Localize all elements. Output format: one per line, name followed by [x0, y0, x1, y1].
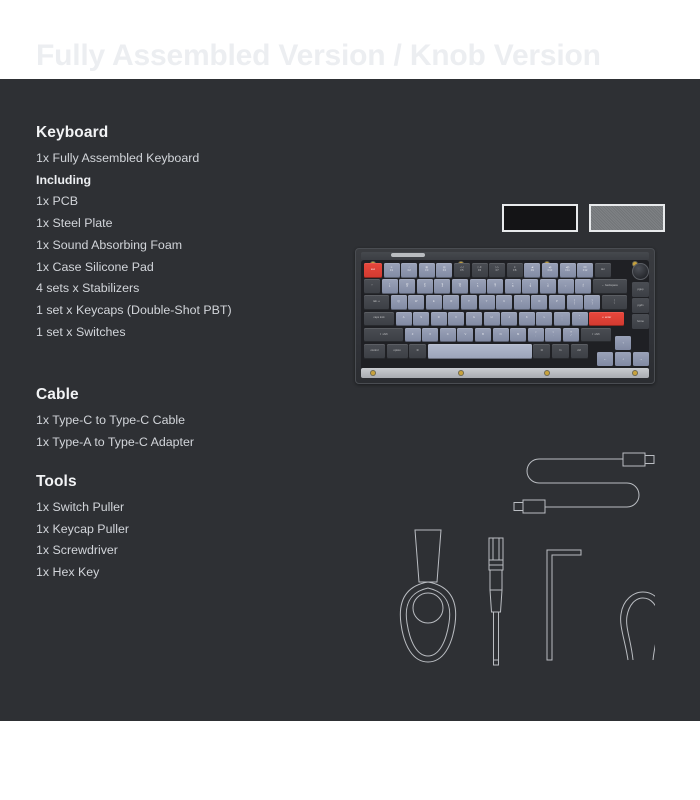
key-p[interactable]: P [549, 295, 565, 310]
keycap-row-2: ~`!1@2#3$4%5^6&7*8(9)0_-+=← backspace [364, 279, 646, 294]
key-▷ii-f6[interactable]: ▷IIF6 [472, 263, 488, 278]
key-i[interactable]: I [514, 295, 530, 310]
key-+-=[interactable]: += [575, 279, 591, 294]
key-⌘[interactable]: ⌘ [533, 344, 550, 359]
key-arrow-left[interactable]: ← [597, 352, 613, 367]
key-?-/[interactable]: ?/ [563, 328, 579, 343]
key-⌘[interactable]: ⌘ [409, 344, 426, 359]
key-☀-f1[interactable]: ☀F1 [384, 263, 400, 278]
tools-section: Tools 1x Switch Puller 1x Keycap Puller … [36, 473, 336, 584]
key-a[interactable]: A [396, 312, 412, 327]
list-item: 1x Case Silicone Pad [36, 257, 336, 279]
key-fn[interactable]: fn [552, 344, 569, 359]
switch-puller-illustration [400, 530, 455, 662]
keyboard-section: Keyboard 1x Fully Assembled Keyboard Inc… [36, 124, 336, 343]
key-l[interactable]: L [536, 312, 552, 327]
key-)-0[interactable]: )0 [540, 279, 556, 294]
spacer [633, 336, 649, 351]
key-◀-f9[interactable]: ◀F9 [524, 263, 540, 278]
usb-c-connector-bottom [514, 500, 545, 513]
list-item: 1x Switch Puller [36, 497, 336, 519]
key-&-7[interactable]: &7 [487, 279, 503, 294]
key-◀)-f10[interactable]: ◀)F10 [542, 263, 558, 278]
key-▷▷-f7[interactable]: ▷▷F7 [489, 263, 505, 278]
key-▤-f4[interactable]: ▤F4 [436, 263, 452, 278]
key-⌧-f12[interactable]: ⌧F12 [577, 263, 593, 278]
key-n[interactable]: N [493, 328, 509, 343]
key-option[interactable]: option [387, 344, 408, 359]
keycap-row-3: tab ⇥QWERTYUIOP{[}]|\ [364, 295, 646, 310]
key-~-`[interactable]: ~` [364, 279, 380, 294]
key-k[interactable]: K [519, 312, 535, 327]
color-swatch-silver-grey[interactable] [589, 204, 665, 232]
nav-key-column: pguppgdnhome [632, 282, 649, 331]
key-pgup[interactable]: pgup [632, 282, 649, 297]
key-←-backspace[interactable]: ← backspace [593, 279, 627, 294]
list-item: 1x Sound Absorbing Foam [36, 235, 336, 257]
key-g[interactable]: G [466, 312, 482, 327]
key-tab-⇥[interactable]: tab ⇥ [364, 295, 389, 310]
list-item: 1 set x Keycaps (Double-Shot PBT) [36, 300, 336, 322]
key-%-5[interactable]: %5 [452, 279, 468, 294]
key-{-[[interactable]: {[ [567, 295, 583, 310]
key-esc[interactable]: esc [364, 263, 382, 278]
key-|-\[interactable]: |\ [602, 295, 627, 310]
key-space[interactable] [428, 344, 532, 359]
tools-section-heading: Tools [36, 473, 336, 491]
key-j[interactable]: J [501, 312, 517, 327]
key-b[interactable]: B [475, 328, 491, 343]
key-s[interactable]: S [413, 312, 429, 327]
key-w[interactable]: W [408, 295, 424, 310]
key-v[interactable]: V [457, 328, 473, 343]
key-(-9[interactable]: (9 [522, 279, 538, 294]
list-item: 4 sets x Stabilizers [36, 278, 336, 300]
keyboard-bottom-bezel [361, 368, 649, 378]
tools-illustration-group [385, 528, 655, 670]
keycap-puller-illustration [621, 592, 655, 660]
arrow-row-bottom: ← ↓ → [597, 352, 649, 367]
key-^-6[interactable]: ^6 [470, 279, 486, 294]
hex-key-illustration [547, 550, 581, 660]
key-x[interactable]: X [422, 328, 438, 343]
color-swatch-group [502, 204, 665, 232]
key-f[interactable]: F [448, 312, 464, 327]
key-c[interactable]: C [440, 328, 456, 343]
page-title: Fully Assembled Version / Knob Version [36, 39, 601, 73]
key-d[interactable]: D [431, 312, 447, 327]
color-swatch-carbon-black[interactable] [502, 204, 578, 232]
key-◀))-f11[interactable]: ◀))F11 [560, 263, 576, 278]
cable-section: Cable 1x Type-C to Type-C Cable 1x Type-… [36, 386, 336, 453]
keycap-row-4: caps lockASDFGHJKL:;"'↵ enter [364, 312, 646, 327]
key-m[interactable]: M [510, 328, 526, 343]
list-item: 1x PCB [36, 191, 336, 213]
key-h[interactable]: H [484, 312, 500, 327]
arrow-key-cluster: ↑ ← ↓ → [597, 336, 649, 368]
key-y[interactable]: Y [479, 295, 495, 310]
key->-.[interactable]: >. [545, 328, 561, 343]
usb-c-connector-top [623, 453, 654, 466]
keyboard-product-image: esc☀F1☼F2▦F3▤F4◁◁F5▷IIF6▷▷F7✕F8◀F9◀)F10◀… [355, 248, 655, 384]
list-item: 1x Keycap Puller [36, 519, 336, 541]
list-item: 1x Screwdriver [36, 540, 336, 562]
key-$-4[interactable]: $4 [434, 279, 450, 294]
list-item: 1 set x Switches [36, 322, 336, 344]
screw-icon [633, 371, 637, 375]
screwdriver-illustration [489, 538, 503, 665]
key-z[interactable]: Z [405, 328, 421, 343]
key-}-][interactable]: }] [584, 295, 600, 310]
key-◁◁-f5[interactable]: ◁◁F5 [454, 263, 470, 278]
key-↵-enter[interactable]: ↵ enter [589, 312, 624, 327]
key-✕-f8[interactable]: ✕F8 [507, 263, 523, 278]
arrow-row-top: ↑ [597, 336, 649, 351]
key-▦-f3[interactable]: ▦F3 [419, 263, 435, 278]
key-<-,[interactable]: <, [528, 328, 544, 343]
keyboard-section-heading: Keyboard [36, 124, 336, 142]
key-arrow-down[interactable]: ↓ [615, 352, 631, 367]
key-t[interactable]: T [461, 295, 477, 310]
product-inclusions-page: Fully Assembled Version / Knob Version K… [0, 0, 700, 800]
key-arrow-up[interactable]: ↑ [615, 336, 631, 351]
rotary-knob[interactable] [632, 263, 649, 280]
key-#-3[interactable]: #3 [417, 279, 433, 294]
key-q[interactable]: Q [391, 295, 407, 310]
key-control[interactable]: control [364, 344, 385, 359]
cable-section-heading: Cable [36, 386, 336, 404]
list-item: 1x Steel Plate [36, 213, 336, 235]
key-u[interactable]: U [496, 295, 512, 310]
key-:-;[interactable]: :; [554, 312, 570, 327]
key-o[interactable]: O [531, 295, 547, 310]
keycap-row-1: esc☀F1☼F2▦F3▤F4◁◁F5▷IIF6▷▷F7✕F8◀F9◀)F10◀… [364, 263, 646, 278]
list-item: 1x Hex Key [36, 562, 336, 584]
list-item: 1x Fully Assembled Keyboard [36, 148, 336, 170]
list-item-including: Including [36, 170, 336, 192]
key-r[interactable]: R [443, 295, 459, 310]
key-del[interactable]: del [595, 263, 611, 278]
cable-illustration [505, 444, 661, 530]
key-@-2[interactable]: @2 [399, 279, 415, 294]
key-☼-f2[interactable]: ☼F2 [401, 263, 417, 278]
screw-icon [545, 371, 549, 375]
key-arrow-right[interactable]: → [633, 352, 649, 367]
key-pgdn[interactable]: pgdn [632, 298, 649, 313]
key-_--[interactable]: _- [558, 279, 574, 294]
list-item: 1x Type-A to Type-C Adapter [36, 432, 336, 454]
key-home[interactable]: home [632, 314, 649, 329]
list-item: 1x Type-C to Type-C Cable [36, 410, 336, 432]
key-caps-lock[interactable]: caps lock [364, 312, 394, 327]
key-ctrl[interactable]: ctrl [571, 344, 588, 359]
key-"-'[interactable]: "' [572, 312, 588, 327]
key-*-8[interactable]: *8 [505, 279, 521, 294]
key-!-1[interactable]: !1 [382, 279, 398, 294]
screw-icon [459, 371, 463, 375]
screw-icon [371, 371, 375, 375]
keyboard-badge [391, 253, 425, 257]
key-e[interactable]: E [426, 295, 442, 310]
key-⇧-shift[interactable]: ⇧ shift [364, 328, 403, 343]
